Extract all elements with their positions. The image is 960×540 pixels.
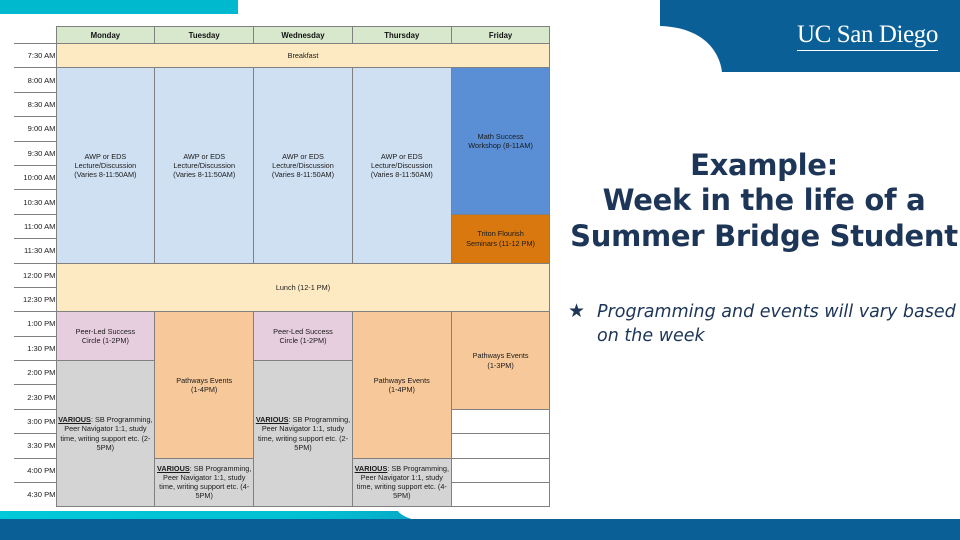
time-label-0800: 8:00 AM (14, 68, 56, 92)
empty-cell-friday-1[interactable] (451, 409, 550, 433)
star-icon: ★ (568, 301, 585, 323)
event-triton-flourish-seminars[interactable]: Triton Flourish Seminars (11-12 PM) (451, 214, 550, 263)
time-label-1100: 11:00 AM (14, 214, 56, 238)
event-class-tuesday[interactable]: AWP or EDS Lecture/Discussion (Varies 8-… (155, 68, 254, 263)
event-class-monday-l3: (Varies 8-11:50AM) (57, 170, 155, 179)
event-peer-monday-l2: Circle (1-2PM) (57, 336, 155, 345)
event-pathways-thursday-l2: (1-4PM) (353, 385, 451, 394)
table-row: 7:30 AM Breakfast (14, 44, 550, 68)
event-various-wednesday[interactable]: VARIOUS: SB Programming, Peer Navigator … (254, 361, 353, 507)
event-lunch[interactable]: Lunch (12-1 PM) (56, 263, 550, 312)
event-various-thursday[interactable]: VARIOUS: SB Programming, Peer Navigator … (352, 458, 451, 506)
page-title-line-2: Week in the life of a (568, 183, 960, 218)
time-label-0900: 9:00 AM (14, 117, 56, 141)
time-label-0230: 2:30 PM (14, 385, 56, 409)
event-class-wednesday-l1: AWP or EDS (254, 152, 352, 161)
event-pathways-thursday[interactable]: Pathways Events (1-4PM) (352, 312, 451, 458)
empty-cell-friday-2[interactable] (451, 434, 550, 458)
schedule-table: Monday Tuesday Wednesday Thursday Friday… (14, 26, 550, 507)
event-peer-wednesday-l2: Circle (1-2PM) (254, 336, 352, 345)
event-pathways-friday-l1: Pathways Events (452, 351, 550, 360)
event-class-monday-l1: AWP or EDS (57, 152, 155, 161)
event-pathways-friday[interactable]: Pathways Events (1-3PM) (451, 312, 550, 410)
ucsd-logo: UC San Diego (797, 22, 938, 51)
time-label-1200: 12:00 PM (14, 263, 56, 287)
page-title-line-1: Example: (568, 148, 960, 183)
event-pathways-thursday-l1: Pathways Events (353, 376, 451, 385)
day-header-friday: Friday (451, 27, 550, 44)
event-class-thursday-l1: AWP or EDS (353, 152, 451, 161)
note-bullet-text: Programming and events will vary based o… (597, 300, 960, 348)
event-class-thursday[interactable]: AWP or EDS Lecture/Discussion (Varies 8-… (352, 68, 451, 263)
event-class-monday-l2: Lecture/Discussion (57, 161, 155, 170)
weekly-schedule: Monday Tuesday Wednesday Thursday Friday… (14, 26, 550, 507)
day-header-monday: Monday (56, 27, 155, 44)
time-label-0200: 2:00 PM (14, 361, 56, 385)
event-peer-wednesday-l1: Peer-Led Success (254, 327, 352, 336)
event-class-thursday-l2: Lecture/Discussion (353, 161, 451, 170)
page-title: Example: Week in the life of a Summer Br… (568, 148, 960, 254)
event-class-wednesday-l3: (Varies 8-11:50AM) (254, 170, 352, 179)
event-various-wednesday-label: VARIOUS (256, 415, 289, 424)
event-class-wednesday-l2: Lecture/Discussion (254, 161, 352, 170)
time-label-1130: 11:30 AM (14, 239, 56, 263)
event-math-l1: Math Success (452, 132, 550, 141)
event-math-success-workshop[interactable]: Math Success Workshop (8-11AM) (451, 68, 550, 214)
event-peer-monday-l1: Peer-Led Success (57, 327, 155, 336)
table-header-row: Monday Tuesday Wednesday Thursday Friday (14, 27, 550, 44)
empty-cell-friday-4[interactable] (451, 483, 550, 507)
event-breakfast[interactable]: Breakfast (56, 44, 550, 68)
ucsd-logo-text: UC San Diego (797, 21, 938, 48)
event-class-thursday-l3: (Varies 8-11:50AM) (353, 170, 451, 179)
event-class-tuesday-l2: Lecture/Discussion (155, 161, 253, 170)
time-label-0300: 3:00 PM (14, 409, 56, 433)
time-label-1030: 10:30 AM (14, 190, 56, 214)
event-class-monday[interactable]: AWP or EDS Lecture/Discussion (Varies 8-… (56, 68, 155, 263)
table-row: 12:00 PM Lunch (12-1 PM) (14, 263, 550, 287)
corner-spacer (14, 27, 56, 44)
event-pathways-tuesday-l1: Pathways Events (155, 376, 253, 385)
time-label-0830: 8:30 AM (14, 92, 56, 116)
time-label-0130: 1:30 PM (14, 336, 56, 360)
note-bullet-item: ★ Programming and events will vary based… (568, 300, 960, 348)
day-header-wednesday: Wednesday (254, 27, 353, 44)
time-label-0100: 1:00 PM (14, 312, 56, 336)
empty-cell-friday-3[interactable] (451, 458, 550, 482)
day-header-tuesday: Tuesday (155, 27, 254, 44)
time-label-0330: 3:30 PM (14, 434, 56, 458)
event-math-l2: Workshop (8-11AM) (452, 141, 550, 150)
event-triton-l1: Triton Flourish (452, 229, 550, 238)
event-peer-led-circle-wednesday[interactable]: Peer-Led Success Circle (1-2PM) (254, 312, 353, 361)
event-various-tuesday-label: VARIOUS (157, 464, 190, 473)
event-various-monday-label: VARIOUS (58, 415, 91, 424)
event-triton-l2: Seminars (11-12 PM) (452, 239, 550, 248)
event-various-tuesday[interactable]: VARIOUS: SB Programming, Peer Navigator … (155, 458, 254, 506)
event-various-thursday-label: VARIOUS (355, 464, 388, 473)
time-label-1230: 12:30 PM (14, 287, 56, 311)
time-label-0930: 9:30 AM (14, 141, 56, 165)
event-pathways-tuesday-l2: (1-4PM) (155, 385, 253, 394)
day-header-thursday: Thursday (352, 27, 451, 44)
event-pathways-friday-l2: (1-3PM) (452, 361, 550, 370)
page-title-line-3: Summer Bridge Student (568, 219, 960, 254)
event-pathways-tuesday[interactable]: Pathways Events (1-4PM) (155, 312, 254, 458)
table-row: 1:00 PM Peer-Led Success Circle (1-2PM) … (14, 312, 550, 336)
bottom-cyan-swoosh-shape (0, 508, 440, 540)
event-various-monday[interactable]: VARIOUS: SB Programming, Peer Navigator … (56, 361, 155, 507)
top-cyan-accent-bar (0, 0, 238, 14)
time-label-1000: 10:00 AM (14, 165, 56, 189)
time-label-0730: 7:30 AM (14, 44, 56, 68)
event-peer-led-circle-monday[interactable]: Peer-Led Success Circle (1-2PM) (56, 312, 155, 361)
bottom-blue-bar (0, 519, 960, 540)
event-class-tuesday-l1: AWP or EDS (155, 152, 253, 161)
event-class-wednesday[interactable]: AWP or EDS Lecture/Discussion (Varies 8-… (254, 68, 353, 263)
time-label-0430: 4:30 PM (14, 483, 56, 507)
time-label-0400: 4:00 PM (14, 458, 56, 482)
table-row: 8:00 AM AWP or EDS Lecture/Discussion (V… (14, 68, 550, 92)
event-class-tuesday-l3: (Varies 8-11:50AM) (155, 170, 253, 179)
